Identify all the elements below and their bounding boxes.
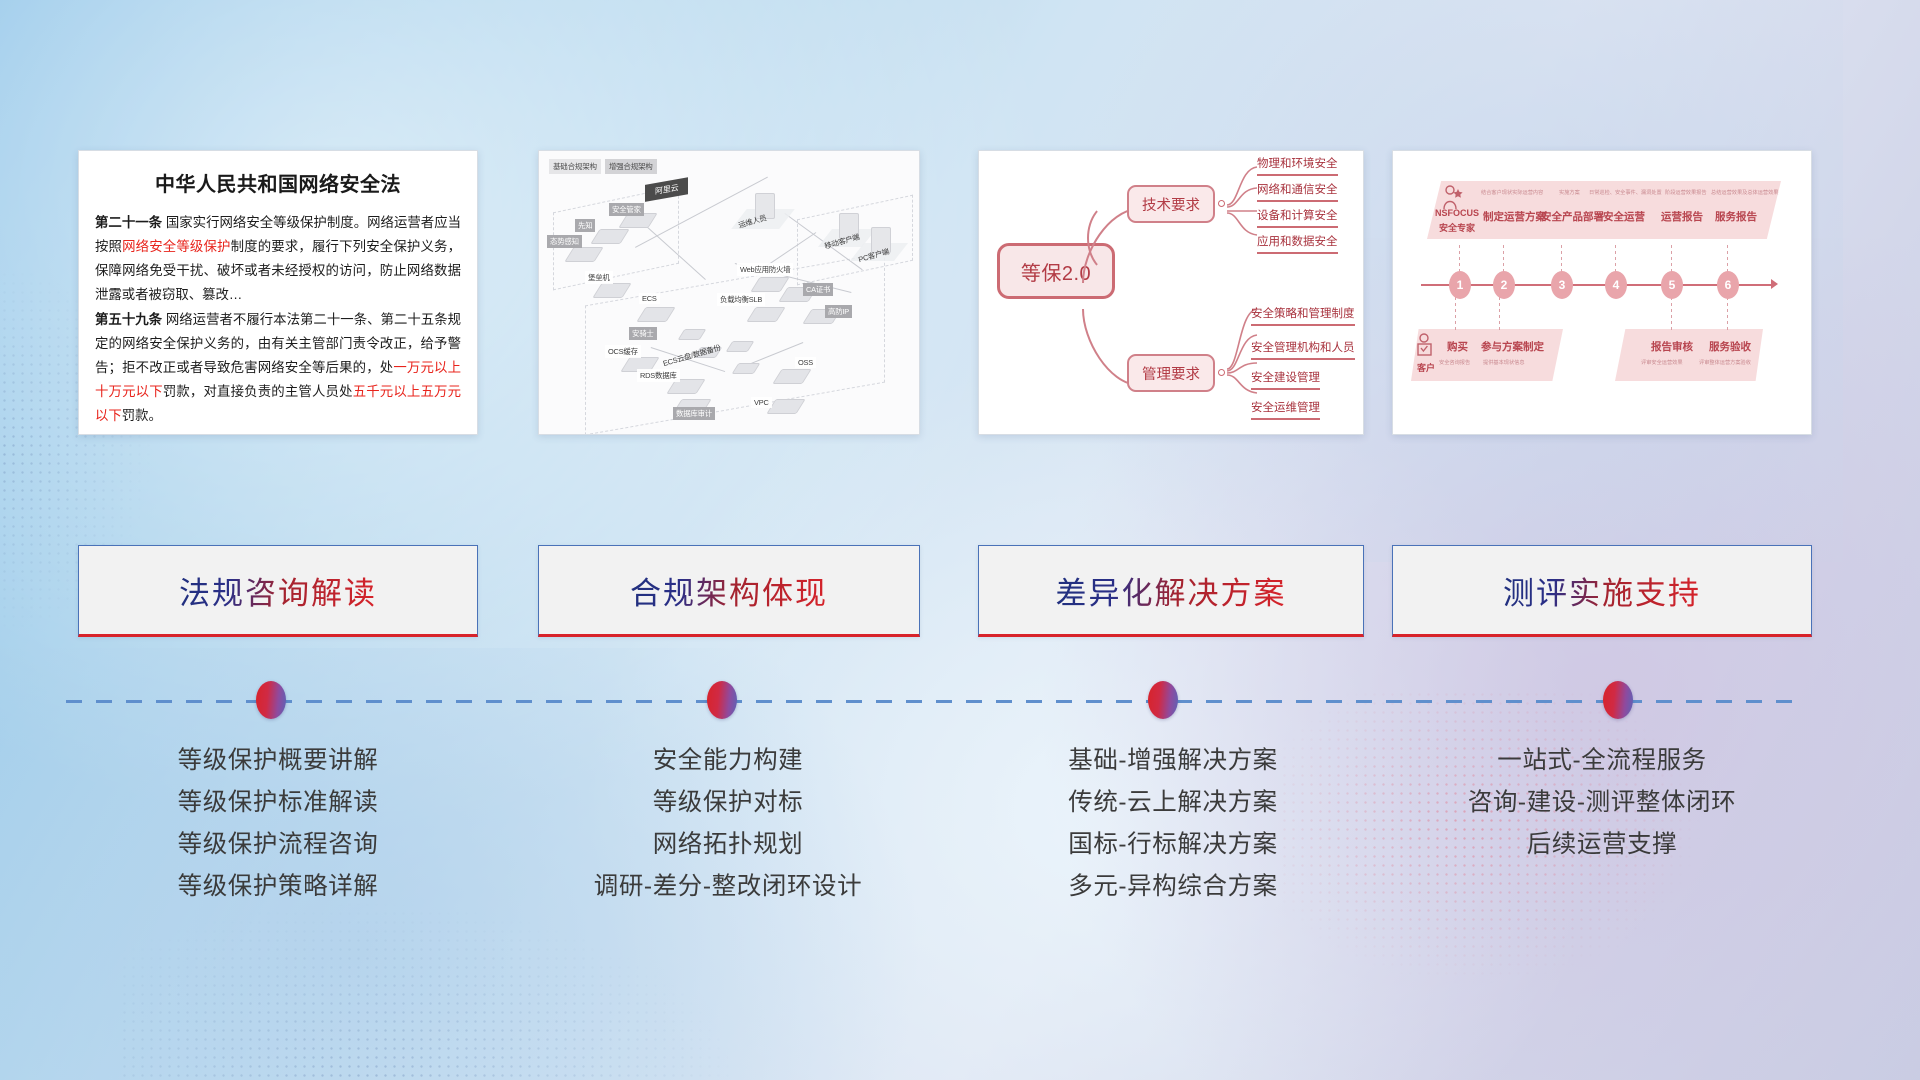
customer-person-icon xyxy=(1415,333,1435,359)
bullet-2-3: 网络拓扑规划 xyxy=(528,824,928,866)
law-article-59: 第五十九条 网络运营者不履行本法第二十一条、第二十五条规定的网络安全保护义务的，… xyxy=(95,308,461,427)
mindmap-leaf-network-comm: 网络和通信安全 xyxy=(1257,181,1338,202)
law-article-21-highlight: 网络安全等级保护 xyxy=(122,239,231,254)
card-mindmap[interactable]: 等保2.0 技术要求 管理要求 物 xyxy=(978,150,1364,435)
timeline-band-customer-right xyxy=(1615,329,1763,381)
bullet-4-1: 一站式-全流程服务 xyxy=(1382,740,1822,782)
architecture-tabs: 基础合规架构 增强合规架构 xyxy=(549,159,657,174)
law-article-59-text-b: 罚款，对直接负责的主管人员处 xyxy=(163,384,353,399)
bullet-2-1: 安全能力构建 xyxy=(528,740,928,782)
bullet-3-4: 多元-异构综合方案 xyxy=(968,866,1378,908)
card-law-document[interactable]: 中华人民共和国网络安全法 第二十一条 国家实行网络安全等级保护制度。网络运营者应… xyxy=(78,150,478,435)
timeline-marker-4[interactable] xyxy=(1603,681,1633,719)
timeline-node-1[interactable]: 1 xyxy=(1449,271,1471,299)
timeline-arrow-icon xyxy=(1771,279,1778,289)
label-ops-staff: 运维人员 xyxy=(734,210,771,232)
top-step-3-title: 安全运营 xyxy=(1603,209,1645,224)
bullet-4-3: 后续运营支撑 xyxy=(1382,824,1822,866)
mindmap-leaf-construction-mgmt: 安全建设管理 xyxy=(1251,369,1320,390)
timeline-node-5[interactable]: 5 xyxy=(1661,271,1683,299)
mindmap-expand-dot-technical[interactable] xyxy=(1218,200,1225,207)
label-vpc: VPC xyxy=(751,397,772,408)
label-rds: RDS数据库 xyxy=(637,369,680,382)
bullet-2-2: 等级保护对标 xyxy=(528,782,928,824)
label-bastion-host: 堡垒机 xyxy=(585,271,613,284)
section-title-label-4: 测评实施支持 xyxy=(1503,568,1701,613)
bottom-step-3-title: 报告审核 xyxy=(1651,339,1693,354)
law-title: 中华人民共和国网络安全法 xyxy=(79,168,477,197)
mindmap-leaf-app-data: 应用和数据安全 xyxy=(1257,233,1338,254)
law-article-59-label: 第五十九条 xyxy=(95,312,162,327)
preview-cards-row: 中华人民共和国网络安全法 第二十一条 国家实行网络安全等级保护制度。网络运营者应… xyxy=(0,150,1920,440)
bullet-1-4: 等级保护策略详解 xyxy=(78,866,478,908)
timeline-node-2[interactable]: 2 xyxy=(1493,271,1515,299)
timeline-node-3[interactable]: 3 xyxy=(1551,271,1573,299)
bottom-step-2-sub: 提供基本现状信息 xyxy=(1483,359,1525,366)
mindmap-leaf-physical-env: 物理和环境安全 xyxy=(1257,155,1338,176)
top-step-3-sub: 日常巡检、安全事件、漏洞处置 xyxy=(1589,189,1662,196)
mindmap-branch-technical: 技术要求 xyxy=(1127,185,1215,223)
timeline-dash-b4 xyxy=(1727,297,1728,331)
top-step-1-title: 制定运营方案 xyxy=(1483,209,1546,224)
bullet-1-3: 等级保护流程咨询 xyxy=(78,824,478,866)
mindmap-expand-dot-management[interactable] xyxy=(1218,369,1225,376)
top-step-4-title: 运营报告 xyxy=(1661,209,1703,224)
section-title-label-3: 差异化解决方案 xyxy=(1056,568,1287,613)
section-title-box-3[interactable]: 差异化解决方案 xyxy=(978,545,1364,637)
label-anqishi: 安骑士 xyxy=(629,327,657,340)
timeline-marker-3[interactable] xyxy=(1148,681,1178,719)
label-ocs-cache: OCS缓存 xyxy=(605,345,641,358)
card-architecture-diagram[interactable]: 基础合规架构 增强合规架构 阿里云 安全管家 先知 态势感知 xyxy=(538,150,920,435)
label-ca-cert: CA证书 xyxy=(803,283,833,296)
top-step-1-sub: 结合客户现状实际运营内容 xyxy=(1481,189,1543,196)
bullet-3-1: 基础-增强解决方案 xyxy=(968,740,1378,782)
bullet-column-1: 等级保护概要讲解 等级保护标准解读 等级保护流程咨询 等级保护策略详解 xyxy=(78,740,478,909)
top-step-2-title: 安全产品部署 xyxy=(1541,209,1604,224)
bottom-step-1-title: 购买 xyxy=(1447,339,1468,354)
label-waf: Web应用防火墙 xyxy=(737,263,793,276)
mindmap-leaf-device-compute: 设备和计算安全 xyxy=(1257,207,1338,228)
tab-enhanced-architecture[interactable]: 增强合规架构 xyxy=(605,159,657,174)
bottom-step-2-title: 参与方案制定 xyxy=(1481,339,1544,354)
timeline-strip xyxy=(0,672,1920,732)
label-slb: 负载均衡SLB xyxy=(717,293,765,306)
customer-label: 客户 xyxy=(1417,361,1435,374)
timeline-node-6[interactable]: 6 xyxy=(1717,271,1739,299)
bullet-columns: 等级保护概要讲解 等级保护标准解读 等级保护流程咨询 等级保护策略详解 安全能力… xyxy=(0,740,1920,990)
bottom-step-1-sub: 安全咨询报告 xyxy=(1439,359,1470,366)
label-xianzhi: 先知 xyxy=(575,219,595,232)
law-article-21-label: 第二十一条 xyxy=(95,215,162,230)
card-service-timeline[interactable]: NSFOCUS 安全专家 客户 结合客户现状实际运营内容 制定运营方案 实施方案… xyxy=(1392,150,1812,435)
section-title-box-4[interactable]: 测评实施支持 xyxy=(1392,545,1812,637)
expert-label-line2: 安全专家 xyxy=(1439,221,1475,234)
top-step-2-sub: 实施方案 xyxy=(1559,189,1580,196)
mindmap-canvas: 等保2.0 技术要求 管理要求 物 xyxy=(979,151,1363,434)
timeline-marker-2[interactable] xyxy=(707,681,737,719)
bottom-step-4-title: 服务验收 xyxy=(1709,339,1751,354)
label-ecs: ECS xyxy=(639,293,660,304)
cube-bastion-host xyxy=(592,283,631,298)
top-step-4-sub: 阶段运营效果报告 xyxy=(1665,189,1707,196)
bullet-column-4: 一站式-全流程服务 咨询-建设-测评整体闭环 后续运营支撑 xyxy=(1382,740,1822,866)
timeline-dash-b3 xyxy=(1671,297,1672,331)
section-title-box-2[interactable]: 合规架构体现 xyxy=(538,545,920,637)
timeline-node-4[interactable]: 4 xyxy=(1605,271,1627,299)
timeline-dash-b2 xyxy=(1499,297,1500,331)
mindmap-fan-technical xyxy=(1225,159,1259,269)
top-step-5-sub: 总结运营效果及总体运营效果 xyxy=(1711,189,1778,196)
label-oss: OSS xyxy=(795,357,816,368)
section-title-label-1: 法规咨询解读 xyxy=(179,568,377,613)
bullet-1-2: 等级保护标准解读 xyxy=(78,782,478,824)
timeline-canvas: NSFOCUS 安全专家 客户 结合客户现状实际运营内容 制定运营方案 实施方案… xyxy=(1393,151,1811,434)
mindmap-branch-management: 管理要求 xyxy=(1127,354,1215,392)
timeline-dashed-line xyxy=(66,700,1798,703)
bullet-column-3: 基础-增强解决方案 传统-云上解决方案 国标-行标解决方案 多元-异构综合方案 xyxy=(968,740,1378,909)
bullet-3-2: 传统-云上解决方案 xyxy=(968,782,1378,824)
expert-label-line1: NSFOCUS xyxy=(1435,208,1479,218)
mindmap-leaf-ops-mgmt: 安全运维管理 xyxy=(1251,399,1320,420)
section-title-label-2: 合规架构体现 xyxy=(630,568,828,613)
label-situational-awareness: 态势感知 xyxy=(547,235,582,248)
bottom-step-3-sub: 评审安全运营效果 xyxy=(1641,359,1683,366)
mindmap-leaf-policy-system: 安全策略和管理制度 xyxy=(1251,305,1355,326)
timeline-dash-b1 xyxy=(1455,297,1456,331)
tab-basic-architecture[interactable]: 基础合规架构 xyxy=(549,159,601,174)
bullet-4-2: 咨询-建设-测评整体闭环 xyxy=(1382,782,1822,824)
label-security-butler: 安全管家 xyxy=(609,203,644,216)
law-article-59-text-c: 罚款。 xyxy=(122,408,162,423)
label-anti-ddos-ip: 高防IP xyxy=(825,305,852,318)
bullet-2-4: 调研-差分-整改闭环设计 xyxy=(528,866,928,908)
top-step-5-title: 服务报告 xyxy=(1715,209,1757,224)
bullet-column-2: 安全能力构建 等级保护对标 网络拓扑规划 调研-差分-整改闭环设计 xyxy=(528,740,928,909)
timeline-marker-1[interactable] xyxy=(256,681,286,719)
bullet-1-1: 等级保护概要讲解 xyxy=(78,740,478,782)
architecture-canvas: 基础合规架构 增强合规架构 阿里云 安全管家 先知 态势感知 xyxy=(539,151,919,434)
label-db-audit: 数据库审计 xyxy=(673,407,715,420)
bottom-step-4-sub: 评审整体运营方案验收 xyxy=(1699,359,1751,366)
section-title-box-1[interactable]: 法规咨询解读 xyxy=(78,545,478,637)
bullet-3-3: 国标-行标解决方案 xyxy=(968,824,1378,866)
mindmap-leaf-org-personnel: 安全管理机构和人员 xyxy=(1251,339,1355,360)
law-article-21: 第二十一条 国家实行网络安全等级保护制度。网络运营者应当按照网络安全等级保护制度… xyxy=(95,211,461,306)
section-titles-row: 法规咨询解读 合规架构体现 差异化解决方案 测评实施支持 xyxy=(0,545,1920,645)
law-body: 第二十一条 国家实行网络安全等级保护制度。网络运营者应当按照网络安全等级保护制度… xyxy=(79,197,477,428)
